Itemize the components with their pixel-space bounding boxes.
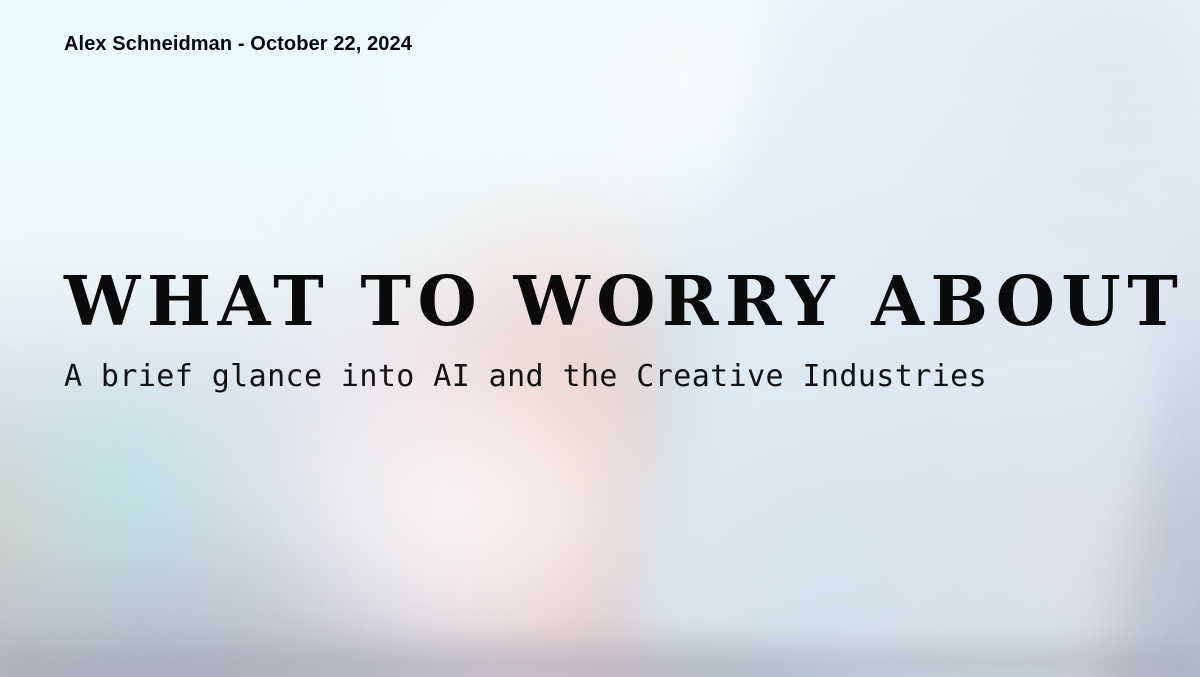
slide-content: Alex Schneidman - October 22, 2024 WHAT … bbox=[0, 0, 1200, 677]
slide-byline: Alex Schneidman - October 22, 2024 bbox=[64, 33, 412, 56]
title-block: WHAT TO WORRY ABOUT A brief glance into … bbox=[64, 268, 1154, 392]
slide-subtitle: A brief glance into AI and the Creative … bbox=[64, 336, 1154, 392]
slide-title: WHAT TO WORRY ABOUT bbox=[64, 268, 1154, 336]
presentation-slide: Alex Schneidman - October 22, 2024 WHAT … bbox=[0, 0, 1200, 677]
